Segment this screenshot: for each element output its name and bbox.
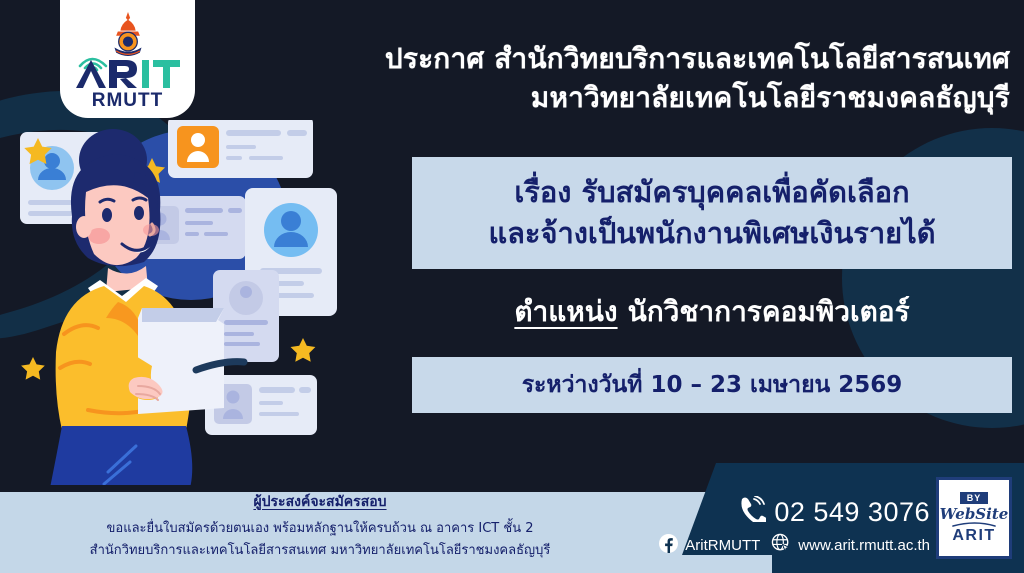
phone-row[interactable]: 02 549 3076 [659,496,930,529]
facebook-icon[interactable] [659,534,678,557]
arit-rmutt-logo: RMUTT [60,0,195,118]
date-range-text: ระหว่างวันที่ 10 – 23 เมษายน 2569 [522,367,903,403]
phone-number: 02 549 3076 [774,497,930,528]
application-instructions: ผู้ประสงค์จะสมัครสอบ ขอและยื่นใบสมัครด้ว… [60,491,580,561]
position-label: ตำแหน่ง [514,290,617,334]
poster-canvas: RMUTT ประกาศ สำนักวิทยบริการและเทคโนโลยี… [0,0,1024,573]
woman-with-resumes-illustration [0,120,420,485]
instructions-line-1: ขอและยื่นใบสมัครด้วยตนเอง พร้อมหลักฐานให… [60,518,580,539]
subject-panel: เรื่อง รับสมัครบุคคลเพื่อคัดเลือก และจ้า… [412,157,1012,269]
instructions-line-2: สำนักวิทยบริการและเทคโนโลยีสารสนเทศ มหาว… [60,540,580,561]
subject-line-1: เรื่อง รับสมัครบุคคลเพื่อคัดเลือก [514,172,909,213]
badge-arit-label: ARIT [952,528,995,544]
position-row: ตำแหน่ง นักวิชาการคอมพิวเตอร์ [412,285,1012,339]
arit-wordmark [74,50,182,90]
subject-line-2: และจ้างเป็นพนักงานพิเศษเงินรายได้ [488,213,935,254]
position-value: นักวิชาการคอมพิวเตอร์ [628,290,910,334]
announcement-header: ประกาศ สำนักวิทยบริการและเทคโนโลยีสารสนเ… [320,40,1010,117]
phone-ringing-icon [738,496,766,529]
website-url[interactable]: www.arit.rmutt.ac.th [798,537,930,554]
header-line-2: มหาวิทยาลัยเทคโนโลยีราชมงคลธัญบุรี [320,79,1010,118]
badge-website-label: WebSite [940,507,1009,522]
instructions-title: ผู้ประสงค์จะสมัครสอบ [60,491,580,513]
contact-block: 02 549 3076 AritRMUTT www.arit.rmutt.ac.… [659,496,930,557]
website-by-arit-badge: BY WebSite ARIT [936,477,1012,559]
date-panel: ระหว่างวันที่ 10 – 23 เมษายน 2569 [412,357,1012,413]
rmutt-subtext: RMUTT [92,91,163,110]
globe-cursor-icon[interactable] [771,533,791,557]
social-row: AritRMUTT www.arit.rmutt.ac.th [659,533,930,557]
badge-by-label: BY [960,492,989,504]
facebook-handle[interactable]: AritRMUTT [685,537,760,554]
header-line-1: ประกาศ สำนักวิทยบริการและเทคโนโลยีสารสนเ… [320,40,1010,79]
